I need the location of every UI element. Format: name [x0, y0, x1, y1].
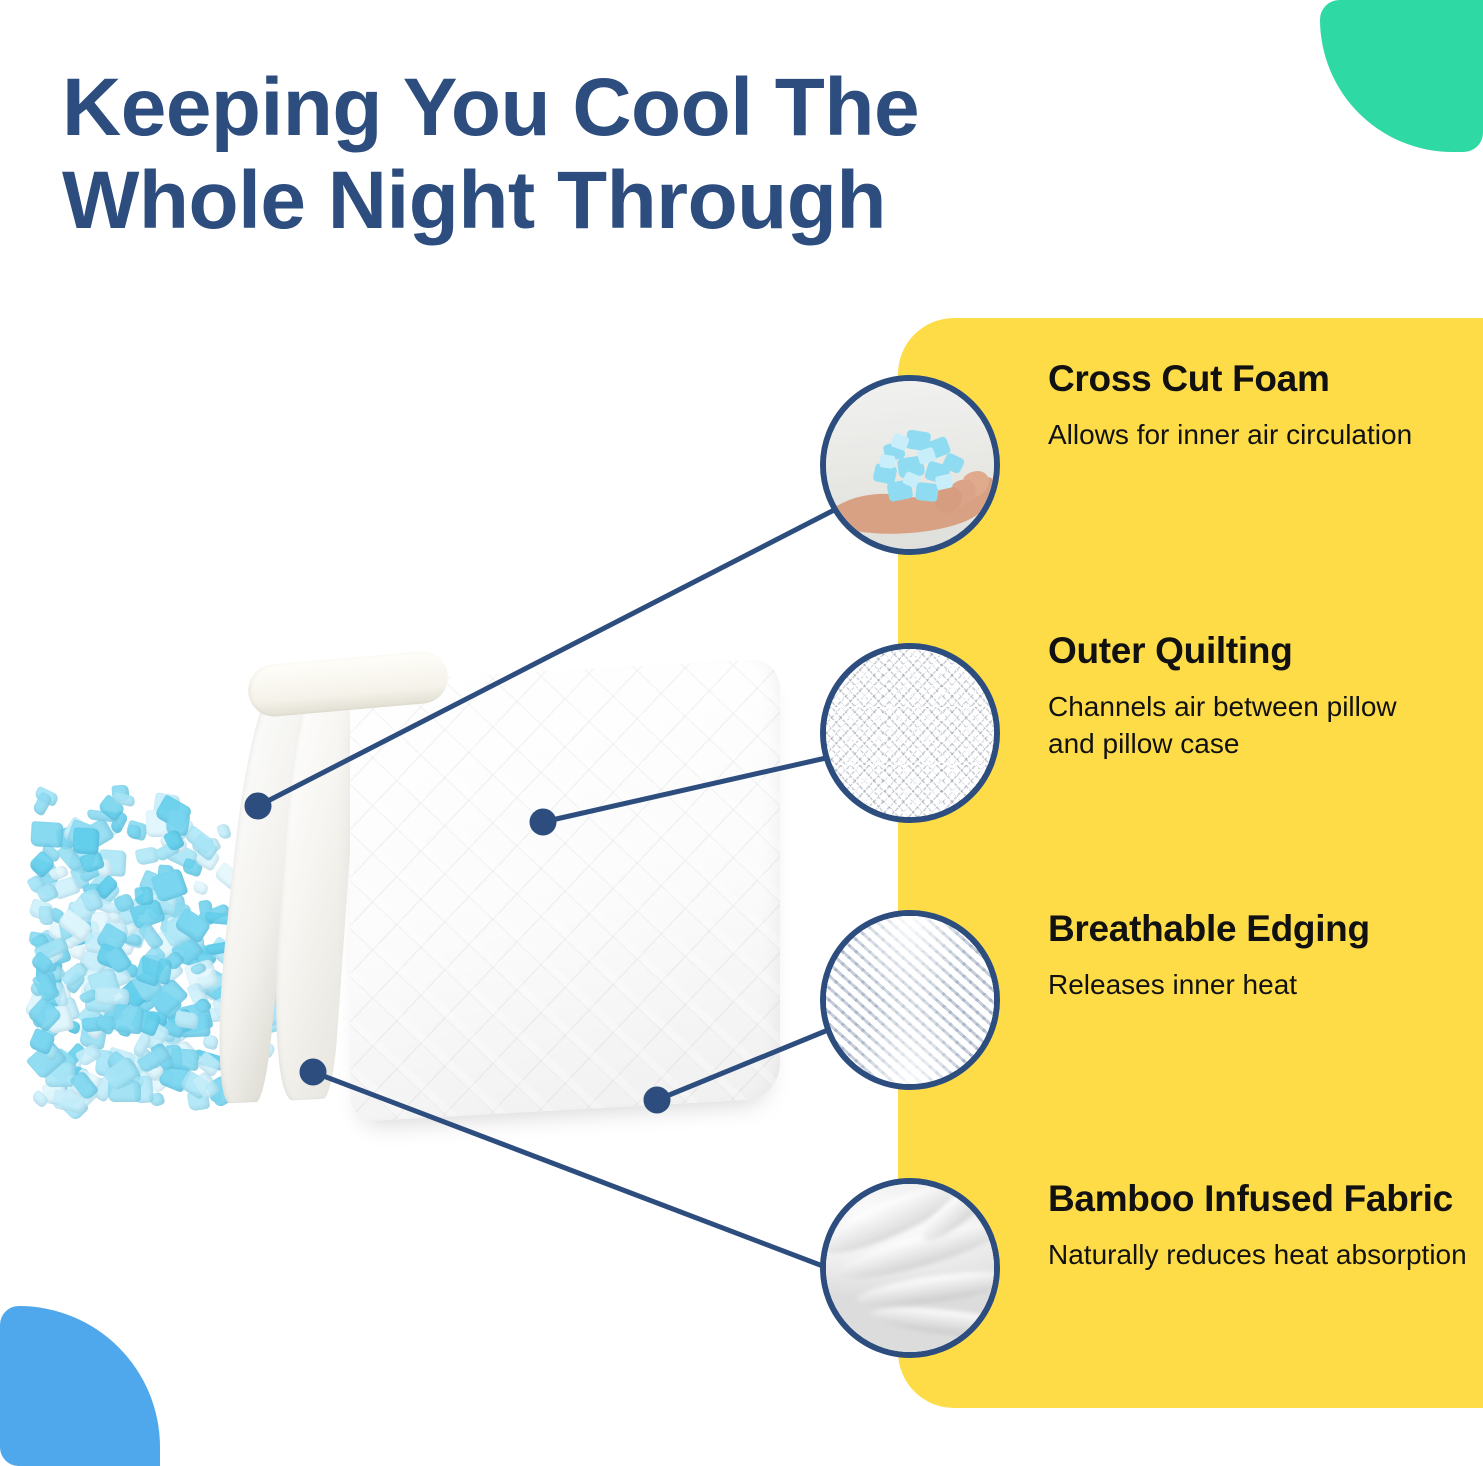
feature-text-outer-quilting: Outer Quilting Channels air between pill… [1048, 630, 1448, 762]
feature-description: Allows for inner air circulation [1048, 416, 1448, 453]
feature-icon-bamboo-fabric [820, 1178, 1000, 1358]
breathable-mesh-icon [826, 916, 994, 1084]
quilted-diamond-stitch-icon [826, 649, 994, 817]
page-title: Keeping You Cool The Whole Night Through [62, 62, 1042, 247]
pillow-quilted-body [350, 658, 780, 1122]
headline-line-1: Keeping You Cool The [62, 62, 1042, 155]
feature-title: Cross Cut Foam [1048, 358, 1448, 401]
feature-icon-outer-quilting [820, 643, 1000, 823]
feature-title: Outer Quilting [1048, 630, 1448, 673]
feature-description: Releases inner heat [1048, 966, 1448, 1003]
feature-title: Breathable Edging [1048, 908, 1448, 951]
feature-description: Channels air between pillow and pillow c… [1048, 688, 1448, 762]
feature-title: Bamboo Infused Fabric [1048, 1178, 1468, 1221]
product-image [20, 640, 780, 1140]
hand-holding-shredded-foam-icon [826, 381, 994, 549]
feature-icon-breathable-edging [820, 910, 1000, 1090]
headline-line-2: Whole Night Through [62, 155, 1042, 248]
feature-text-breathable-edging: Breathable Edging Releases inner heat [1048, 908, 1448, 1003]
infographic-canvas: Keeping You Cool The Whole Night Through [0, 0, 1483, 1466]
feature-text-bamboo-fabric: Bamboo Infused Fabric Naturally reduces … [1048, 1178, 1468, 1273]
feature-icon-cross-cut-foam [820, 375, 1000, 555]
green-corner-blob-icon [1320, 0, 1483, 152]
feature-text-cross-cut-foam: Cross Cut Foam Allows for inner air circ… [1048, 358, 1448, 453]
blue-corner-blob-icon [0, 1306, 160, 1466]
draped-white-fabric-icon [826, 1184, 994, 1352]
feature-description: Naturally reduces heat absorption [1048, 1236, 1468, 1273]
